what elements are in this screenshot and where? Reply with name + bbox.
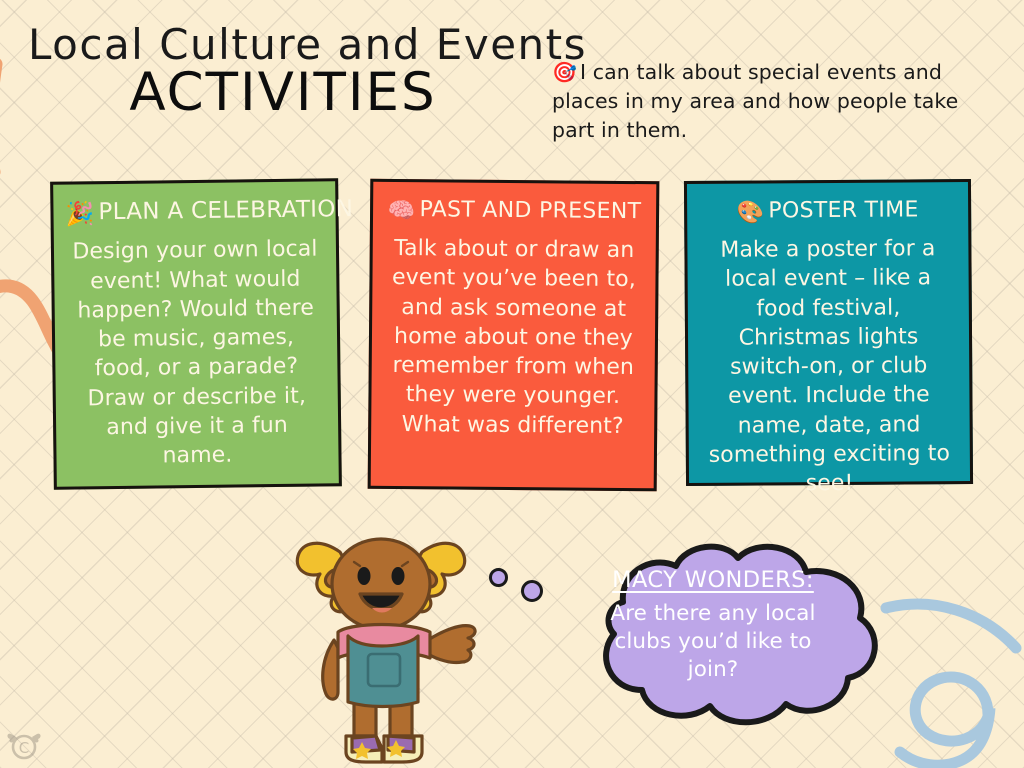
page-title: ACTIVITIES: [28, 65, 538, 121]
artist-palette-icon: 🎨: [737, 200, 765, 225]
thought-bubble-dot-large: [521, 580, 543, 602]
slide-header: Local Culture and Events ACTIVITIES 🎯I c…: [0, 0, 1024, 170]
party-popper-icon: 🎉: [65, 201, 94, 227]
activity-card-heading-text: PAST AND PRESENT: [419, 197, 641, 224]
target-icon: 🎯: [552, 60, 577, 84]
thought-bubble: [528, 540, 888, 730]
activity-card-body: Talk about or draw an event you’ve been …: [383, 234, 644, 441]
brain-icon: 🧠: [388, 199, 416, 224]
learning-objective: 🎯I can talk about special events and pla…: [552, 58, 972, 145]
mascot-macy-moose: [272, 512, 492, 768]
page-title-subtitle: Local Culture and Events: [28, 22, 538, 67]
activity-card-heading-text: POSTER TIME: [768, 197, 918, 223]
activity-card-heading-text: PLAN A CELEBRATION: [98, 196, 353, 225]
activity-card-body: Design your own local event! What would …: [66, 235, 327, 472]
title-block: Local Culture and Events ACTIVITIES: [28, 22, 538, 121]
activity-card-body: Make a poster for a local event – like a…: [699, 234, 958, 499]
activity-card-past-and-present[interactable]: 🧠PAST AND PRESENT Talk about or draw an …: [368, 179, 660, 492]
activity-card-heading: 🎨POSTER TIME: [699, 198, 956, 226]
activity-card-poster-time[interactable]: 🎨POSTER TIME Make a poster for a local e…: [684, 179, 973, 486]
svg-text:C: C: [19, 739, 29, 757]
activity-card-heading: 🧠PAST AND PRESENT: [385, 198, 644, 226]
thought-bubble-dot-small: [489, 568, 508, 587]
activity-card-plan-a-celebration[interactable]: 🎉PLAN A CELEBRATION Design your own loca…: [50, 178, 342, 489]
activity-card-group: 🎉PLAN A CELEBRATION Design your own loca…: [0, 180, 1024, 495]
moose-copyright-watermark: C: [4, 724, 44, 764]
slide-canvas: Local Culture and Events ACTIVITIES 🎯I c…: [0, 0, 1024, 768]
activity-card-heading: 🎉PLAN A CELEBRATION: [65, 197, 323, 227]
learning-objective-text: I can talk about special events and plac…: [552, 60, 958, 142]
